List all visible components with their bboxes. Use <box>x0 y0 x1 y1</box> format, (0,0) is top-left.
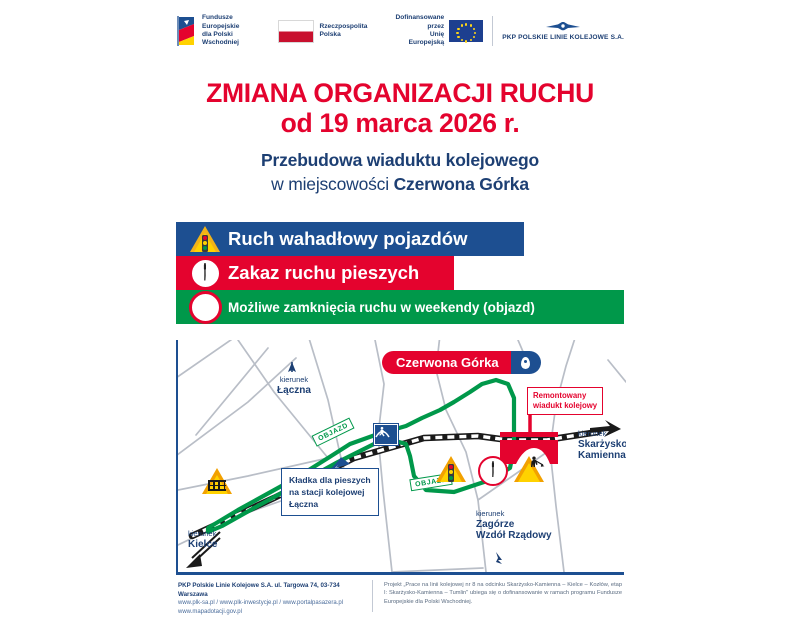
footer-divider-bar <box>176 572 624 575</box>
legend: Ruch wahadłowy pojazdów Zakaz ruchu pies… <box>176 222 624 324</box>
legend-label-2: Możliwe zamknięcia ruchu w weekendy (obj… <box>228 300 535 315</box>
footer: PKP Polskie Linie Kolejowe S.A. ul. Targ… <box>176 572 624 620</box>
pkp-wings-icon <box>545 21 581 33</box>
republic-logo: Rzeczpospolita Polska <box>278 20 367 43</box>
pkp-logo-text: PKP POLSKIE LINIE KOLEJOWE S.A. <box>502 34 624 41</box>
place-label-czerwona-gorka: Czerwona Górka <box>382 351 541 374</box>
legend-item-weekend-closure: Możliwe zamknięcia ruchu w weekendy (obj… <box>176 290 624 324</box>
roadworks-warning-sign <box>514 456 544 483</box>
eu-flag-icon <box>449 20 483 42</box>
map: Czerwona Górka Remontowany wiadukt kolej… <box>176 340 626 572</box>
map-roads-layer <box>178 340 626 572</box>
direction-label-skarzysko: kierunek Skarżysko- Kamienna <box>578 428 626 461</box>
direction-label-lazcna: kierunek Łączna <box>270 374 318 396</box>
footbridge-info-sign <box>374 424 398 445</box>
republic-line1: Rzeczpospolita <box>319 23 367 31</box>
legend-item-no-pedestrians: Zakaz ruchu pieszych <box>176 256 454 290</box>
footer-company: PKP Polskie Linie Kolejowe S.A. ul. Targ… <box>178 581 366 599</box>
page-subtitle: Przebudowa wiaduktu kolejowego w miejsco… <box>176 148 624 196</box>
footer-vertical-divider <box>372 580 373 612</box>
direction-name-3a: Zagórze <box>476 519 552 530</box>
footer-contact: PKP Polskie Linie Kolejowe S.A. ul. Targ… <box>178 581 366 616</box>
poster: Fundusze Europejskie dla Polski Wschodni… <box>0 0 800 630</box>
eu-line2: Unię Europejską <box>395 31 444 48</box>
title-line1: ZMIANA ORGANIZACJI RUCHU <box>206 78 594 108</box>
direction-label-zagorze: kierunek Zagórze Wzdół Rządowy <box>476 508 552 541</box>
viaduct-note: Remontowany wiadukt kolejowy <box>527 387 603 415</box>
eu-cofunding-logo: Dofinansowane przez Unię Europejską <box>395 14 483 48</box>
viaduct-note-line2: wiadukt kolejowy <box>533 401 597 411</box>
funds-logo-line1: Fundusze Europejskie <box>202 14 248 31</box>
direction-name-3b: Wzdół Rządowy <box>476 530 552 541</box>
direction-label-kielce: kierunek Kielce <box>188 528 217 550</box>
direction-name-0: Łączna <box>270 385 318 396</box>
footbridge-note-line2: na stacji kolejowej <box>289 486 371 498</box>
legend-item-shuttle-traffic: Ruch wahadłowy pojazdów <box>176 222 524 256</box>
traffic-light-warning-sign <box>436 456 466 483</box>
viaduct-note-line1: Remontowany <box>533 391 597 401</box>
zagorze-arrow <box>496 552 502 564</box>
direction-name-1a: Skarżysko- <box>578 439 626 450</box>
funds-logo-text: Fundusze Europejskie dla Polski Wschodni… <box>202 14 248 48</box>
subtitle-line2-place: Czerwona Górka <box>394 174 529 194</box>
subtitle-line2: w miejscowości Czerwona Górka <box>176 172 624 196</box>
legend-label-1: Zakaz ruchu pieszych <box>228 262 419 284</box>
pkp-logo: PKP POLSKIE LINIE KOLEJOWE S.A. <box>502 21 624 41</box>
road-closed-icon <box>188 292 222 322</box>
level-crossing-warning-sign <box>202 468 232 495</box>
direction-name-2: Kielce <box>188 539 217 550</box>
direction-prefix-1: kierunek <box>578 428 626 439</box>
eu-line1: Dofinansowane przez <box>395 14 444 31</box>
direction-prefix-2: kierunek <box>188 528 217 539</box>
footer-project-note: Projekt „Prace na linii kolejowej nr 8 n… <box>384 581 622 606</box>
roadworks-glyph <box>529 456 545 468</box>
funds-mark-icon <box>176 16 197 46</box>
traffic-light-warning-icon <box>188 224 222 254</box>
footbridge-note: Kładka dla pieszych na stacji kolejowej … <box>281 468 379 516</box>
eu-funds-logo: Fundusze Europejskie dla Polski Wschodni… <box>176 14 248 48</box>
footbridge-note-line3: Łączna <box>289 498 371 510</box>
eu-logo-text: Dofinansowane przez Unię Europejską <box>395 14 444 48</box>
poland-flag-icon <box>278 20 314 43</box>
direction-prefix-0: kierunek <box>270 374 318 385</box>
footbridge-note-line1: Kładka dla pieszych <box>289 474 371 486</box>
footer-urls-line1[interactable]: www.plk-sa.pl / www.plk-inwestycje.pl / … <box>178 599 366 608</box>
republic-logo-text: Rzeczpospolita Polska <box>319 23 367 40</box>
page-title: ZMIANA ORGANIZACJI RUCHU od 19 marca 202… <box>176 78 624 138</box>
direction-prefix-3: kierunek <box>476 508 552 519</box>
funds-logo-line2: dla Polski Wschodniej <box>202 31 248 48</box>
footbridge-glyph <box>375 425 390 439</box>
direction-name-1b: Kamienna <box>578 450 626 461</box>
republic-line2: Polska <box>319 31 367 39</box>
no-pedestrians-icon <box>188 258 222 288</box>
subtitle-line2-prefix: w miejscowości <box>271 174 393 194</box>
footer-urls-line2[interactable]: www.mapadotacji.gov.pl <box>178 608 366 617</box>
logo-strip: Fundusze Europejskie dla Polski Wschodni… <box>176 8 624 54</box>
subtitle-line1: Przebudowa wiaduktu kolejowego <box>176 148 624 172</box>
logo-divider <box>492 16 493 46</box>
place-pill-text: Czerwona Górka <box>382 351 511 374</box>
title-line2: od 19 marca 2026 r. <box>176 108 624 138</box>
no-pedestrians-sign <box>478 456 508 486</box>
map-pin-icon <box>511 351 541 374</box>
legend-label-0: Ruch wahadłowy pojazdów <box>228 228 468 250</box>
